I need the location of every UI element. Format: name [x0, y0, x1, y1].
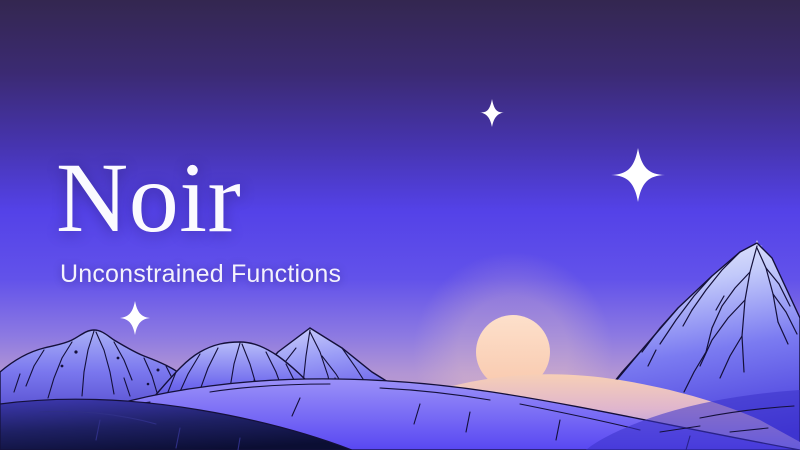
page-title: Noir	[56, 152, 341, 244]
page-subtitle: Unconstrained Functions	[60, 260, 341, 289]
title-block: Noir Unconstrained Functions	[56, 152, 341, 289]
slide-canvas: Noir Unconstrained Functions	[0, 0, 800, 450]
